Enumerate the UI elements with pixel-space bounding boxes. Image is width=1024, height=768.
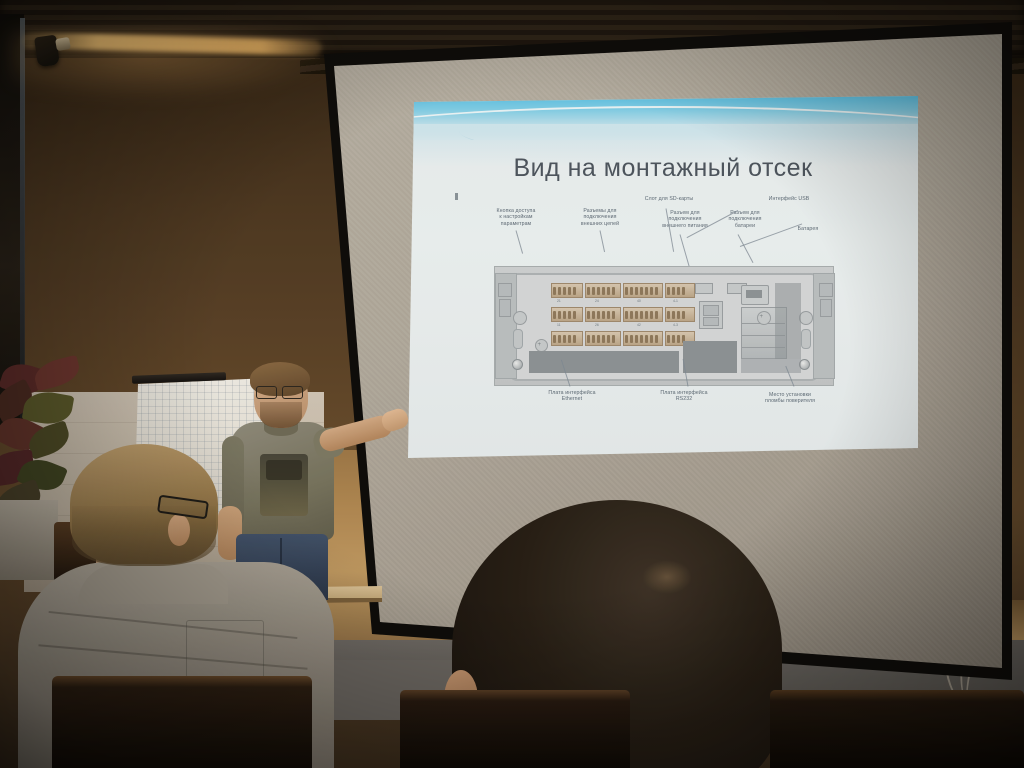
screw-hole-left-upper	[513, 311, 527, 325]
terminal-label-40: 40	[637, 299, 641, 303]
terminal-group-r1-3	[623, 283, 663, 298]
glasses-lens-right	[282, 386, 303, 399]
pin	[677, 311, 680, 319]
pin	[592, 287, 595, 295]
pin	[568, 335, 571, 343]
pin	[587, 335, 590, 343]
pin	[573, 311, 576, 319]
leader-line-external-circuits	[600, 230, 606, 252]
battery-side-panel	[775, 283, 801, 359]
pin	[645, 311, 648, 319]
presenter-glasses-icon	[256, 386, 304, 397]
pin	[682, 311, 685, 319]
slot-mount-left	[513, 329, 523, 349]
power-connector	[703, 317, 719, 326]
terminal-label-4-3: 4-3	[673, 323, 678, 327]
terminal-label-4-1: 4-1	[673, 299, 678, 303]
pin	[558, 335, 561, 343]
pin	[607, 311, 610, 319]
access-button-glyph: +	[538, 342, 542, 348]
pin	[563, 287, 566, 295]
terminal-label-26: 26	[595, 323, 599, 327]
pin	[667, 335, 670, 343]
pin	[682, 287, 685, 295]
chair-front-right	[770, 690, 1024, 768]
pin	[568, 287, 571, 295]
pin	[612, 287, 615, 295]
pin	[677, 287, 680, 295]
pin	[612, 311, 615, 319]
terminal-group-r2-2	[585, 307, 621, 322]
label-battery-connector: Разъем для подключения батареи	[714, 210, 776, 229]
presentation-photo-scene: Вид на монтажный отсек Кнопка доступа к …	[0, 0, 1024, 768]
seal-mounting-area	[741, 359, 801, 373]
pin	[612, 335, 615, 343]
leader-line-power-connector	[680, 234, 690, 267]
presenter-beard	[260, 402, 302, 428]
pin	[625, 335, 628, 343]
label-rs232-board: Плата интерфейса RS232	[644, 390, 724, 403]
pin	[672, 335, 675, 343]
terminal-group-r2-3	[623, 307, 663, 322]
pin	[667, 287, 670, 295]
terminal-group-r1-1	[551, 283, 583, 298]
pin	[563, 335, 566, 343]
label-ethernet-board: Плата интерфейса Ethernet	[532, 390, 612, 403]
pin	[597, 335, 600, 343]
pin	[558, 287, 561, 295]
pin	[640, 311, 643, 319]
label-external-circuit-connectors: Разъемы для подключения внешних цепей	[566, 208, 634, 227]
audience-left-shirt-pocket	[186, 620, 264, 680]
pin	[553, 311, 556, 319]
usb-port-opening	[746, 290, 762, 298]
terminal-label-24: 24	[595, 299, 599, 303]
pin	[645, 335, 648, 343]
audience-left-ear	[168, 514, 190, 546]
pin	[655, 287, 658, 295]
screw-left-bottom	[512, 359, 523, 370]
pin	[563, 311, 566, 319]
pin	[655, 335, 658, 343]
pin	[573, 287, 576, 295]
device-diagram: Кнопка доступа к настройкам параметрам Р…	[408, 204, 918, 434]
screw-hole-right-upper	[799, 311, 813, 325]
terminal-group-r3-1	[551, 331, 583, 346]
terminal-group-r1-4	[665, 283, 695, 298]
pin	[573, 335, 576, 343]
terminal-group-r3-2	[585, 331, 621, 346]
label-access-button: Кнопка доступа к настройкам параметрам	[482, 208, 550, 227]
rs232-interface-board	[683, 341, 737, 373]
pin	[602, 287, 605, 295]
terminal-group-r3-3	[623, 331, 663, 346]
pin	[630, 335, 633, 343]
plant-leaf	[32, 355, 83, 391]
pin	[553, 335, 556, 343]
pin	[635, 311, 638, 319]
pin	[592, 335, 595, 343]
mounting-block-right-top	[819, 283, 833, 297]
battery-terminal-glyph: +	[760, 314, 764, 320]
pin	[607, 287, 610, 295]
pin	[602, 335, 605, 343]
mouse-cursor-mark	[455, 193, 458, 200]
pin	[558, 311, 561, 319]
terminal-label-21: 21	[557, 299, 561, 303]
glasses-lens-left	[256, 386, 277, 399]
pin	[635, 287, 638, 295]
pin	[645, 287, 648, 295]
mounting-block-right-mid	[820, 299, 832, 317]
leader-line-battery-connector	[738, 234, 754, 263]
pin	[640, 287, 643, 295]
mounting-block-left-top	[498, 283, 512, 297]
spotlight-head	[55, 37, 71, 51]
pin	[630, 287, 633, 295]
audience-center-crown	[642, 560, 692, 594]
terminal-group-r2-1	[551, 307, 583, 322]
label-usb-interface: Интерфейс USB	[754, 196, 824, 202]
terminal-label-11: 11	[557, 323, 561, 327]
pin	[650, 335, 653, 343]
sd-card-slot-opening	[703, 305, 719, 316]
pin	[553, 287, 556, 295]
label-seal-location: Место установки пломбы поверителя	[748, 392, 832, 405]
terminal-group-r1-2	[585, 283, 621, 298]
pin	[592, 311, 595, 319]
projected-slide: Вид на монтажный отсек Кнопка доступа к …	[408, 96, 918, 458]
pin	[587, 311, 590, 319]
pin	[630, 311, 633, 319]
audience-left-collar	[78, 564, 228, 604]
terminal-label-42: 42	[637, 323, 641, 327]
chair-front-left	[52, 676, 312, 768]
pin	[625, 311, 628, 319]
pin	[625, 287, 628, 295]
mounting-block-left-mid	[499, 299, 511, 317]
slide-title: Вид на монтажный отсек	[408, 154, 918, 183]
pin	[597, 287, 600, 295]
chair-front-center	[400, 690, 630, 768]
pin	[640, 335, 643, 343]
terminal-group-r2-4	[665, 307, 695, 322]
slot-mount-right	[801, 329, 811, 349]
pin	[587, 287, 590, 295]
device-enclosure: + 21 24 40 4-1	[494, 266, 834, 386]
external-power-terminal	[695, 283, 713, 294]
pin	[655, 311, 658, 319]
pin	[650, 287, 653, 295]
leader-line-access-button	[516, 230, 524, 253]
label-sd-card-slot: Слот для SD-карты	[626, 196, 712, 202]
pin	[672, 287, 675, 295]
pin	[672, 311, 675, 319]
pin	[597, 311, 600, 319]
pin	[635, 335, 638, 343]
pin	[677, 335, 680, 343]
pin	[650, 311, 653, 319]
pin	[568, 311, 571, 319]
pin	[667, 311, 670, 319]
pin	[607, 335, 610, 343]
pin	[602, 311, 605, 319]
ethernet-interface-board	[529, 351, 679, 373]
